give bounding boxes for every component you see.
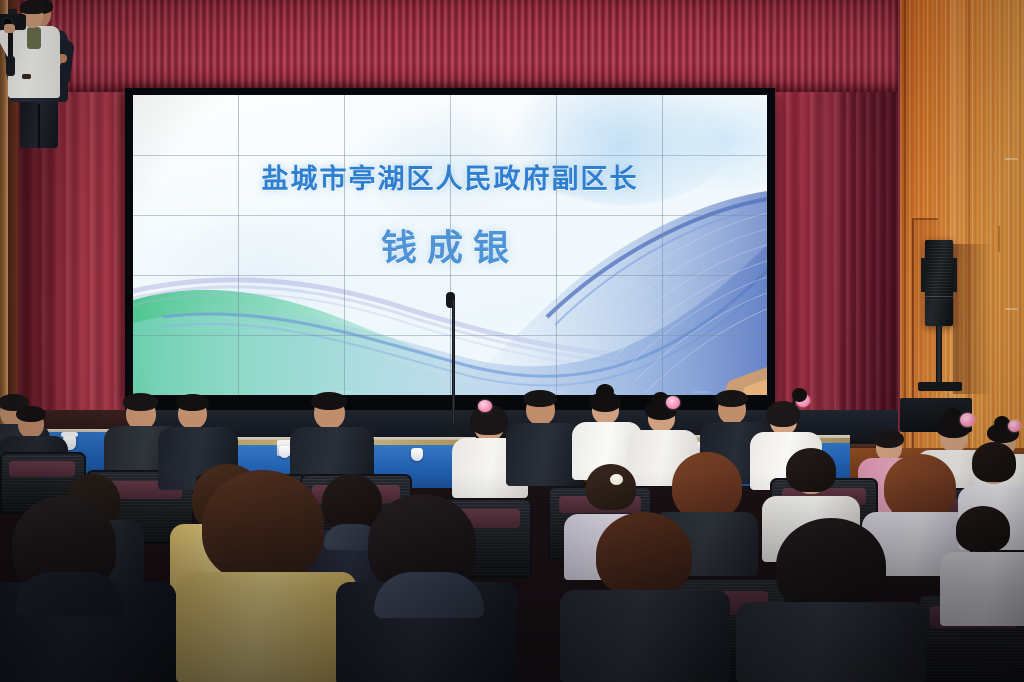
camera-gimbal-grip (6, 56, 15, 76)
pearl-hair-clip (610, 474, 623, 485)
attendee-foreground-hood-left (0, 496, 176, 682)
pink-flower-hair-accessory (960, 413, 975, 427)
attendee-hair (873, 430, 904, 448)
wood-panel-reveal (1005, 158, 1018, 160)
pink-flower-hair-accessory (1008, 420, 1021, 432)
attendee-hair (202, 470, 324, 582)
conference-hall-photo: 盐城市亭湖区人民政府副区长 钱成银 SAMSUNG SAMSUNG SAMSUN… (0, 0, 1024, 682)
bezel-seam-vertical (344, 95, 345, 395)
videographer-inner-tee (27, 27, 41, 49)
teacup (279, 446, 290, 458)
attendee-foreground-blazer (560, 512, 730, 682)
attendee-foreground-yellow (176, 470, 356, 682)
attendee-torso (940, 552, 1024, 626)
attendee-hair (715, 390, 748, 407)
attendee-torso (176, 572, 356, 682)
bezel-seam-vertical (238, 95, 239, 395)
bezel-seam-vertical (450, 95, 451, 395)
bezel-seam-horizontal (133, 335, 767, 336)
attendee-hair (586, 464, 636, 510)
attendee-hair (972, 442, 1016, 482)
attendee-right-edge-white (940, 506, 1024, 626)
led-video-wall: 盐城市亭湖区人民政府副区长 钱成银 SAMSUNG SAMSUNG SAMSUN… (133, 95, 767, 395)
attendee-hair (786, 448, 836, 492)
attendee-hair (523, 390, 557, 407)
hair-bun (596, 384, 614, 400)
wood-panel-reveal (1005, 308, 1018, 310)
attendee-torso (560, 590, 730, 682)
attendee-foreground-right-dark (736, 518, 926, 682)
wood-panel-reveal (998, 226, 1000, 252)
bezel-seam-horizontal (133, 215, 767, 216)
attendee-hair (776, 518, 886, 614)
speaker-stand-base (918, 382, 962, 391)
curtain-valance (18, 0, 898, 92)
speaker-shadow (953, 244, 993, 394)
presenter-leg-gap (38, 104, 40, 148)
attendee-hair (766, 401, 800, 427)
hair-bun (792, 388, 807, 402)
attendee-hair (123, 393, 158, 411)
bezel-seam-vertical (662, 95, 663, 395)
attendee-hair (672, 452, 742, 520)
attendee-hair (176, 394, 209, 411)
wristwatch (22, 74, 31, 79)
bezel-seam-horizontal (133, 275, 767, 276)
video-wall-bezel-seams (133, 95, 767, 395)
jacket-hood (16, 572, 124, 616)
teacup (411, 448, 423, 461)
attendee-hair (311, 392, 347, 410)
loudspeaker-grille (927, 244, 951, 300)
attendee-foreground-hood-right (336, 494, 518, 682)
camera-top-plate (8, 9, 17, 15)
jacket-hood (374, 572, 484, 618)
attendee-hair (596, 512, 692, 598)
videographer-hand (4, 24, 15, 33)
attendee-hair (956, 506, 1010, 552)
pink-flower-hair-accessory (666, 396, 680, 409)
bezel-seam-vertical (556, 95, 557, 395)
bezel-seam-horizontal (133, 155, 767, 156)
attendee-torso (736, 602, 926, 682)
pink-flower-hair-accessory (478, 400, 492, 412)
loudspeaker-seam (925, 296, 953, 297)
speaker-stand-pole (936, 326, 942, 384)
attendee-hair (16, 406, 46, 422)
videographer-hair (20, 0, 45, 14)
